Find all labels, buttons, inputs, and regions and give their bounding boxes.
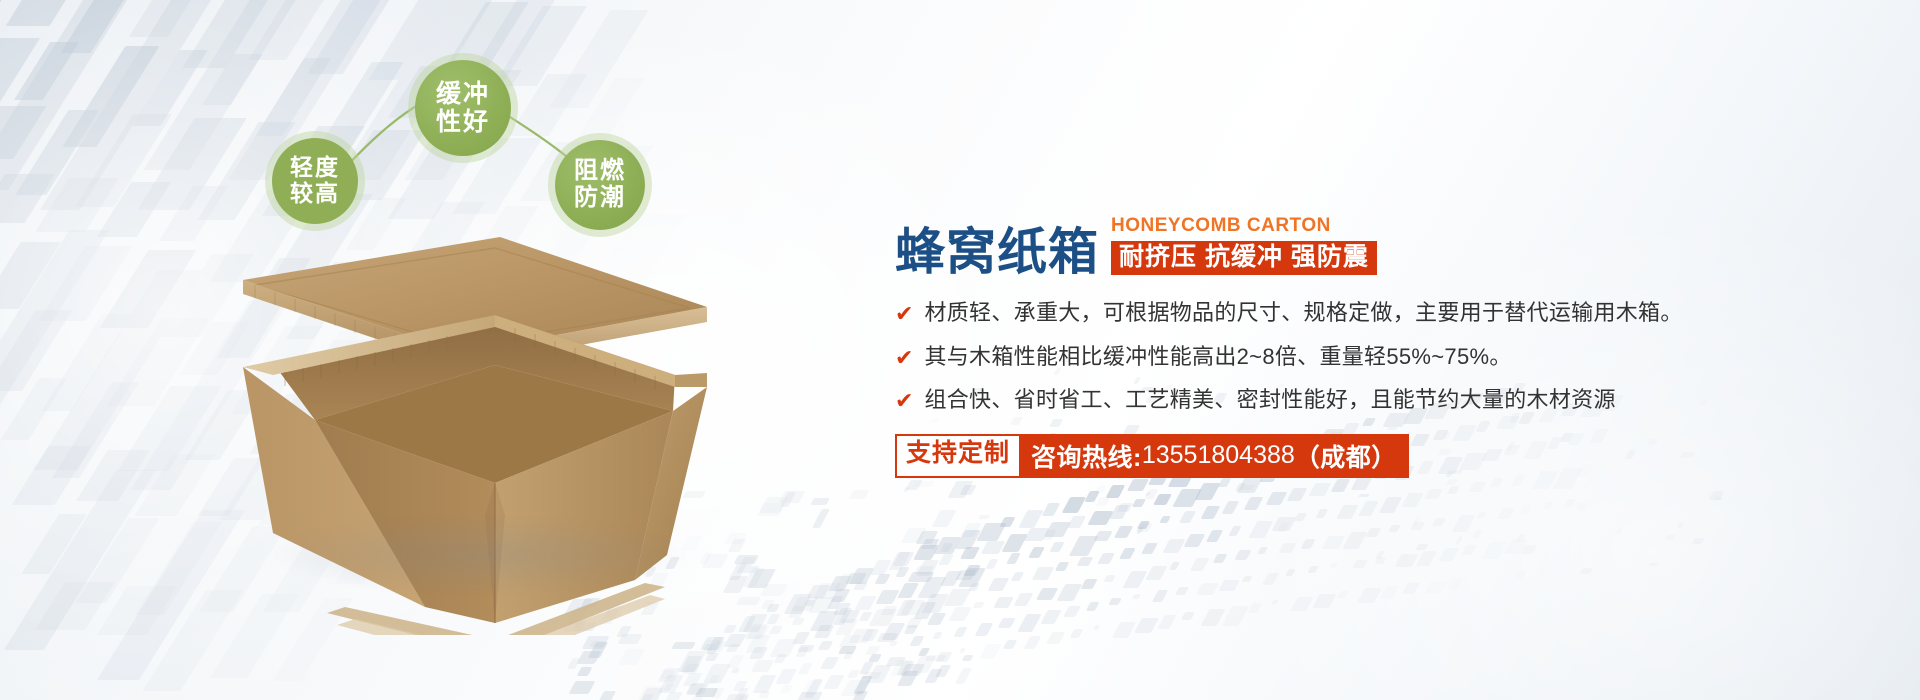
check-icon: ✔ — [895, 343, 913, 369]
feature-circle-2: 缓冲 性好 — [415, 60, 511, 156]
feature-bullet-list: ✔ 材质轻、承重大，可根据物品的尺寸、规格定做，主要用于替代运输用木箱。 ✔ 其… — [895, 299, 1855, 414]
feature-circles-group: 轻度 较高 缓冲 性好 阻燃 防潮 — [250, 40, 690, 240]
page-title: 蜂窝纸箱 — [895, 227, 1099, 277]
list-item: ✔ 其与木箱性能相比缓冲性能高出2~8倍、重量轻55%~75%。 — [895, 343, 1855, 371]
hotline-region: （成都） — [1295, 438, 1397, 474]
hotline-block[interactable]: 咨询热线:13551804388（成都） — [1021, 434, 1409, 478]
hotline-number[interactable]: 13551804388 — [1142, 441, 1295, 470]
bullet-text: 其与木箱性能相比缓冲性能高出2~8倍、重量轻55%~75%。 — [924, 343, 1511, 371]
support-custom-badge: 支持定制 — [895, 434, 1021, 478]
list-item: ✔ 材质轻、承重大，可根据物品的尺寸、规格定做，主要用于替代运输用木箱。 — [895, 299, 1855, 327]
feature-circle-3-line1: 阻燃 — [574, 158, 626, 185]
feature-circle-1: 轻度 较高 — [272, 138, 358, 224]
hotline-label: 咨询热线: — [1031, 438, 1142, 474]
feature-circle-2-line2: 性好 — [436, 108, 490, 136]
contact-bar: 支持定制 咨询热线:13551804388（成都） — [895, 434, 1855, 478]
check-icon: ✔ — [895, 386, 913, 412]
product-shadow — [265, 515, 695, 595]
feature-circle-1-line2: 较高 — [290, 181, 340, 207]
heading-row: 蜂窝纸箱 HONEYCOMB CARTON 耐挤压 抗缓冲 强防震 — [895, 215, 1855, 277]
bullet-text: 组合快、省时省工、工艺精美、密封性能好，且能节约大量的木材资源 — [924, 386, 1615, 414]
tagline-banner: 耐挤压 抗缓冲 强防震 — [1111, 241, 1377, 275]
feature-circle-3-line2: 防潮 — [574, 185, 626, 212]
feature-circle-2-line1: 缓冲 — [436, 80, 490, 108]
banner-content: 蜂窝纸箱 HONEYCOMB CARTON 耐挤压 抗缓冲 强防震 ✔ 材质轻、… — [895, 215, 1855, 478]
product-image-honeycomb-carton — [195, 215, 755, 635]
check-icon: ✔ — [895, 299, 913, 325]
english-subtitle: HONEYCOMB CARTON — [1111, 215, 1377, 237]
feature-circle-1-line1: 轻度 — [290, 155, 340, 181]
bullet-text: 材质轻、承重大，可根据物品的尺寸、规格定做，主要用于替代运输用木箱。 — [924, 299, 1682, 327]
heading-subtitles: HONEYCOMB CARTON 耐挤压 抗缓冲 强防震 — [1111, 215, 1377, 277]
list-item: ✔ 组合快、省时省工、工艺精美、密封性能好，且能节约大量的木材资源 — [895, 386, 1855, 414]
promo-banner: 轻度 较高 缓冲 性好 阻燃 防潮 — [0, 0, 1920, 700]
